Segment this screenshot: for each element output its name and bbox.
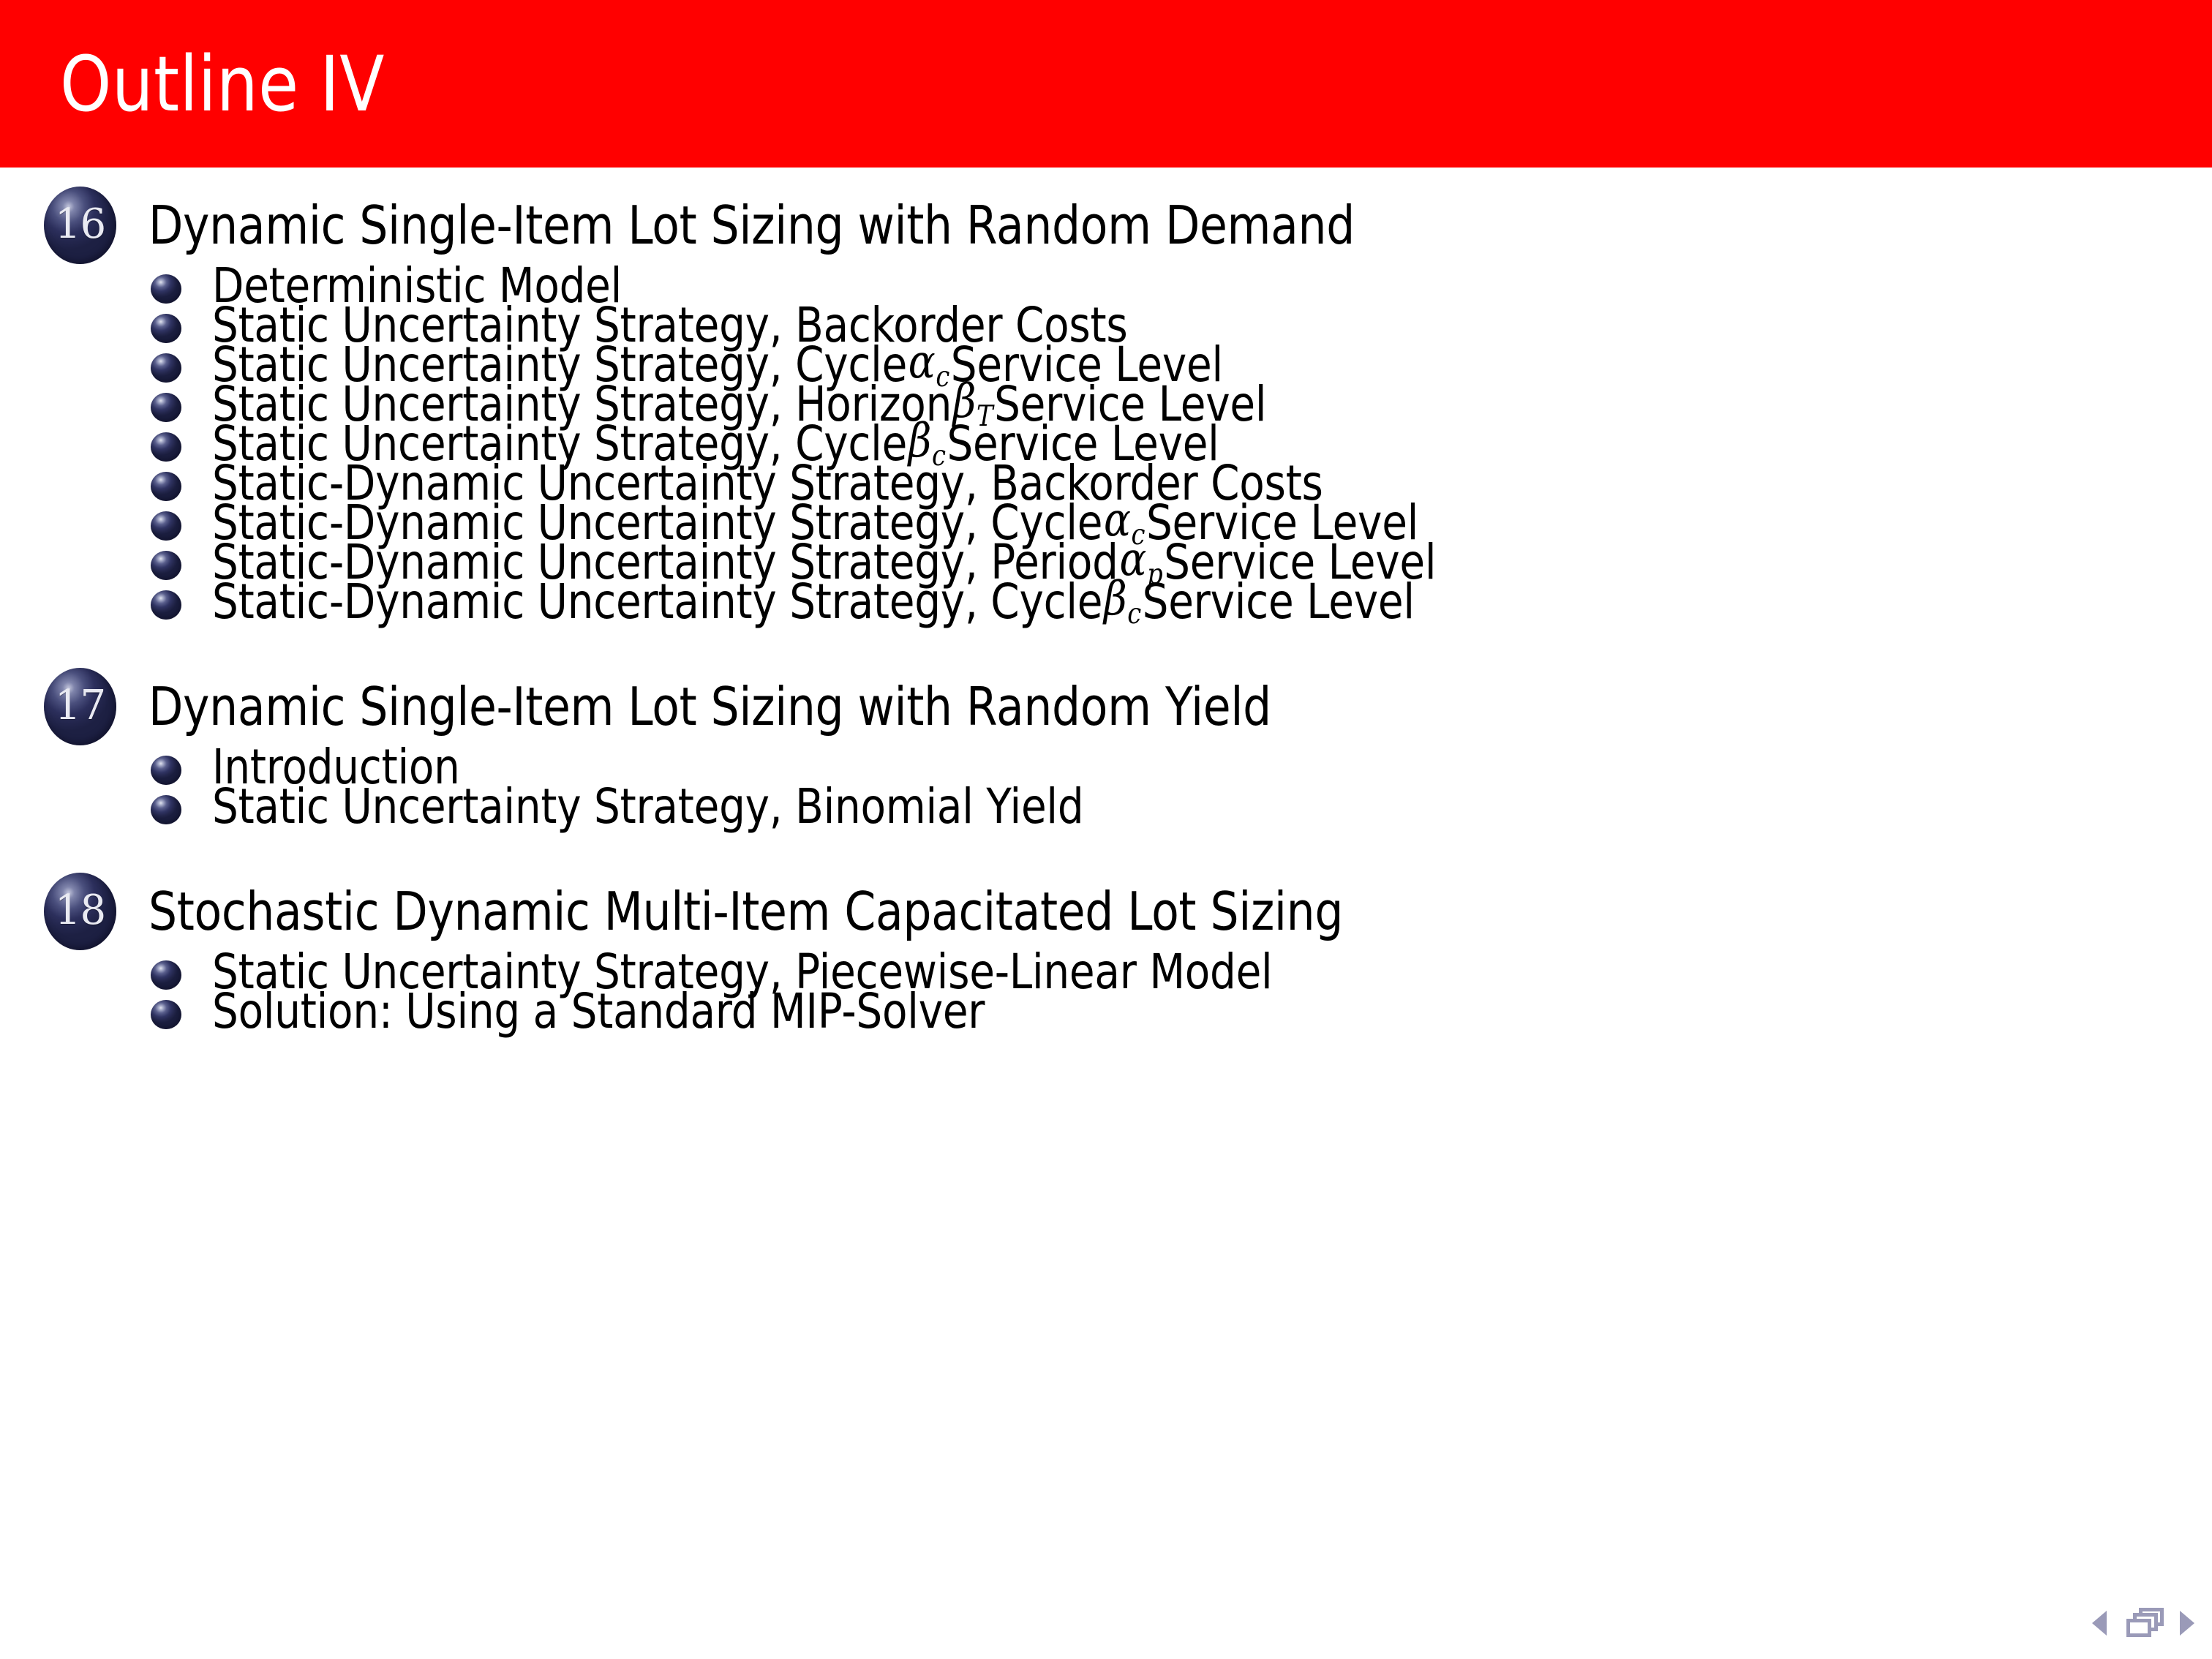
outline-section: 18Stochastic Dynamic Multi-Item Capacita… xyxy=(0,873,2212,1031)
subsection-title-label: Static-Dynamic Uncertainty Strategy, Cyc… xyxy=(212,582,1415,621)
slide-header-bar: Outline IV xyxy=(0,0,2212,168)
bullet-icon xyxy=(151,590,181,620)
section-header-row[interactable]: 18Stochastic Dynamic Multi-Item Capacita… xyxy=(0,873,2212,952)
outline-section: 17Dynamic Single-Item Lot Sizing with Ra… xyxy=(0,668,2212,826)
bullet-icon xyxy=(151,472,181,501)
next-slide-icon[interactable] xyxy=(2180,1611,2194,1636)
previous-slide-icon[interactable] xyxy=(2092,1611,2107,1636)
outline-section: 16Dynamic Single-Item Lot Sizing with Ra… xyxy=(0,187,2212,621)
bullet-icon xyxy=(151,393,181,422)
subsection-row[interactable]: Static Uncertainty Strategy, Binomial Yi… xyxy=(0,786,2212,826)
subsection-text-pre: Static-Dynamic Uncertainty Strategy, Cyc… xyxy=(212,573,1102,630)
subsection-row[interactable]: Static-Dynamic Uncertainty Strategy, Cyc… xyxy=(0,582,2212,621)
section-title-label: Stochastic Dynamic Multi-Item Capacitate… xyxy=(148,873,1343,950)
subsection-title-label: Solution: Using a Standard MIP-Solver xyxy=(212,991,985,1031)
subsection-text-post: Service Level xyxy=(1143,573,1415,630)
section-header-row[interactable]: 17Dynamic Single-Item Lot Sizing with Ra… xyxy=(0,668,2212,747)
bullet-icon xyxy=(151,314,181,343)
subsection-row[interactable]: Solution: Using a Standard MIP-Solver xyxy=(0,991,2212,1031)
section-number-label: 16 xyxy=(55,204,105,245)
section-number-badge: 18 xyxy=(44,873,116,950)
bullet-icon xyxy=(151,511,181,541)
greek-symbol-glyph: β xyxy=(1104,572,1126,626)
page-title: Outline IV xyxy=(60,46,385,122)
section-number-badge: 17 xyxy=(44,668,116,745)
section-number-label: 17 xyxy=(55,685,105,726)
bullet-icon xyxy=(151,1000,181,1029)
section-number-badge: 16 xyxy=(44,187,116,264)
slide-navigation xyxy=(2092,1606,2194,1640)
outline-content: 16Dynamic Single-Item Lot Sizing with Ra… xyxy=(0,168,2212,1659)
bullet-icon xyxy=(151,795,181,824)
greek-symbol: βc xyxy=(1102,572,1142,630)
section-number-label: 18 xyxy=(55,890,105,931)
bullet-icon xyxy=(151,353,181,383)
bullet-icon xyxy=(151,960,181,990)
bullet-icon xyxy=(151,432,181,462)
subsection-text-pre: Solution: Using a Standard MIP-Solver xyxy=(212,983,985,1039)
greek-symbol-subscript: c xyxy=(1126,597,1141,631)
bullet-icon xyxy=(151,274,181,304)
section-title-label: Dynamic Single-Item Lot Sizing with Rand… xyxy=(148,187,1355,264)
subsection-title-label: Static Uncertainty Strategy, Binomial Yi… xyxy=(212,786,1083,826)
section-title-label: Dynamic Single-Item Lot Sizing with Rand… xyxy=(148,668,1271,745)
subsection-text-pre: Static Uncertainty Strategy, Binomial Yi… xyxy=(212,778,1083,835)
frames-stack-icon[interactable] xyxy=(2123,1608,2164,1639)
bullet-icon xyxy=(151,756,181,785)
frame-layer-front xyxy=(2126,1619,2151,1637)
bullet-icon xyxy=(151,551,181,580)
section-header-row[interactable]: 16Dynamic Single-Item Lot Sizing with Ra… xyxy=(0,187,2212,266)
